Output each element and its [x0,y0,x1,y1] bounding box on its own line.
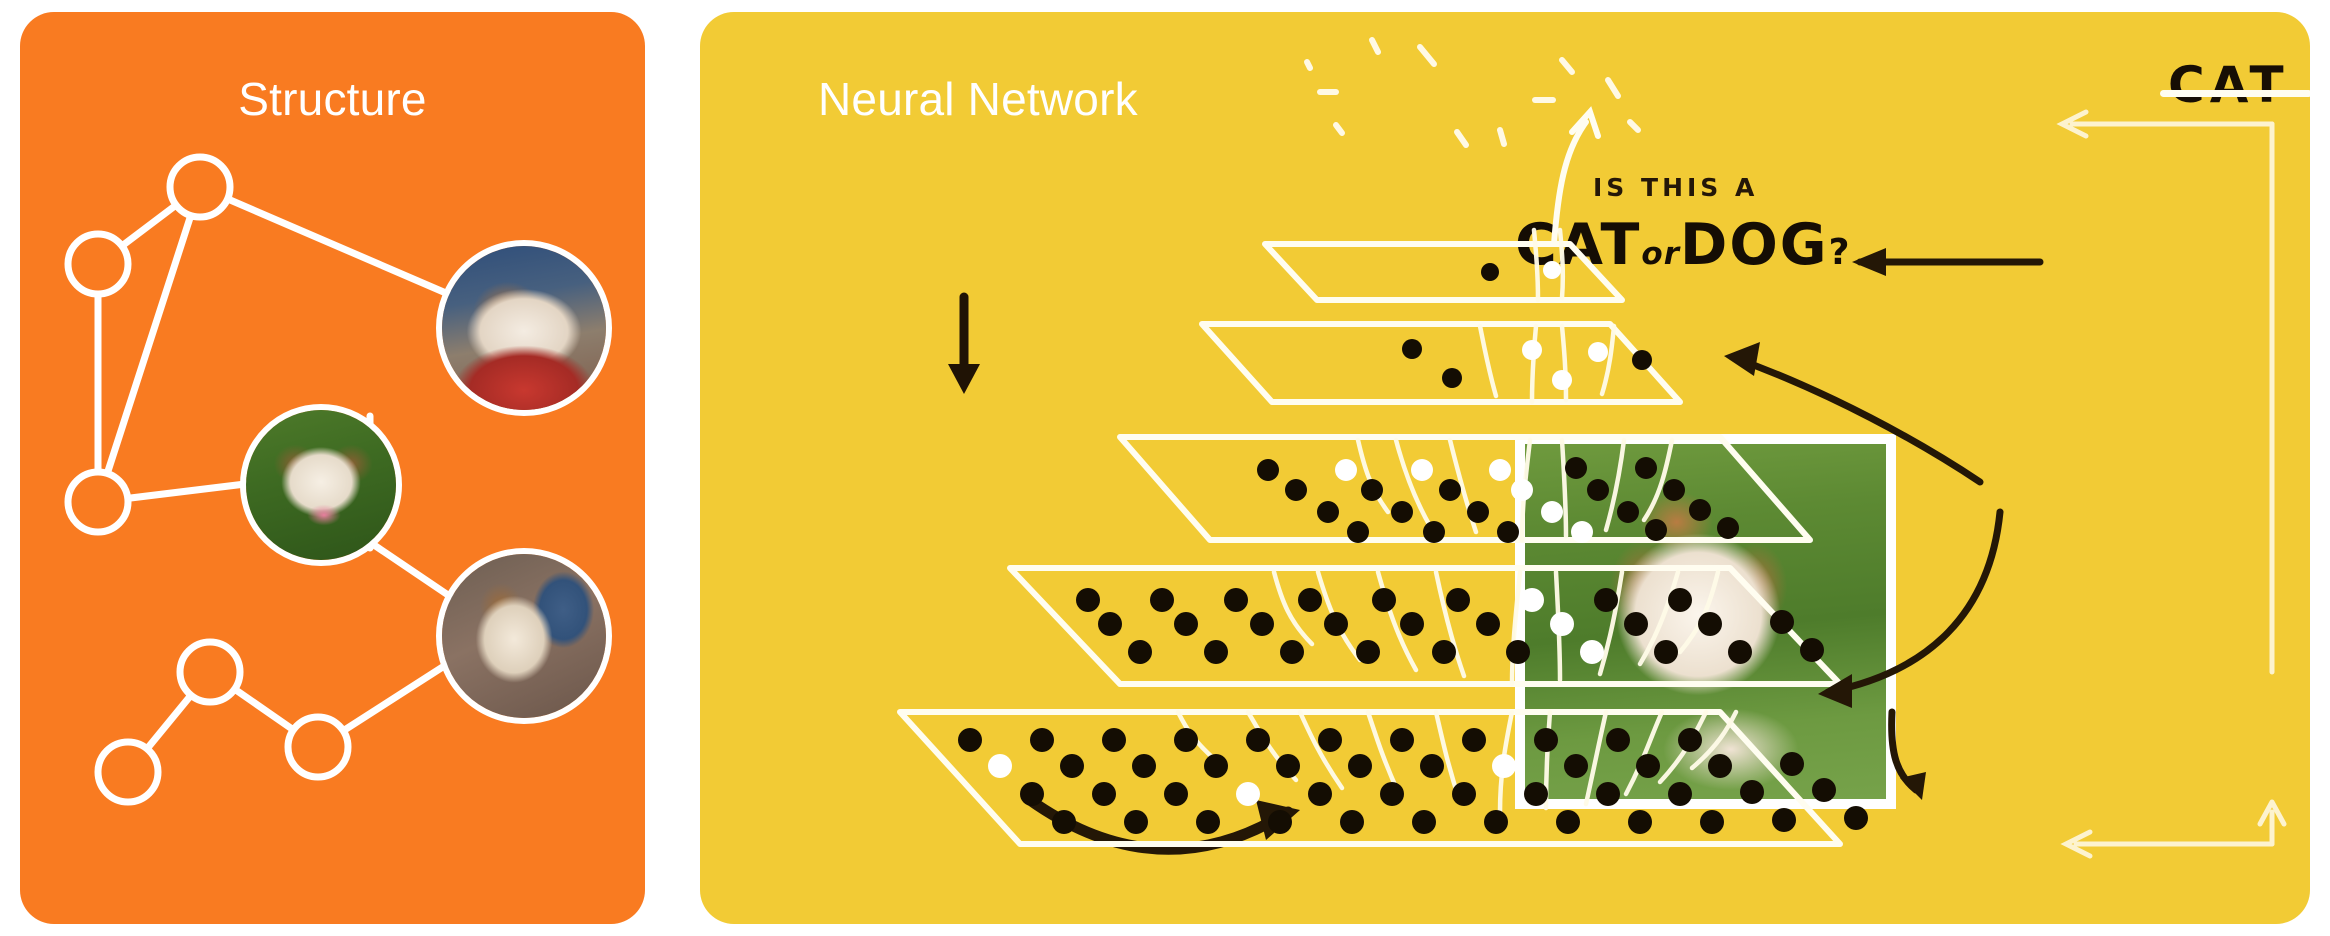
neuron-inactive [1663,479,1685,501]
neuron-inactive [1348,754,1372,778]
neuron-inactive [1844,806,1868,830]
neuron-inactive [1717,517,1739,539]
neurons-input-layer [958,728,1868,834]
neuron-inactive [1632,350,1652,370]
pointer-activated-lower [1828,512,2000,692]
neuron-inactive [1770,610,1794,634]
neuron-inactive [1285,479,1307,501]
neuron-active [1492,754,1516,778]
graph-node [180,642,240,702]
neuron-inactive [1606,728,1630,752]
neural-network-panel: Neural Network IS THIS A CATorDOG? CAT D… [700,12,2310,924]
pointer-activated-upper [1732,357,1980,482]
arrow-question-to-photo [948,297,980,394]
neuron-inactive [1060,754,1084,778]
photo-node-bulldog-on-grass[interactable] [240,404,402,566]
neuron-inactive [1318,728,1342,752]
photo-node-bulldog-on-cushion[interactable] [436,240,612,416]
neuron-inactive [1164,782,1188,806]
neuron-inactive [1728,640,1752,664]
neuron-active [1543,261,1561,279]
graph-node [68,234,128,294]
neuron-active [1552,370,1572,390]
graph-node [68,472,128,532]
neuron-inactive [1361,479,1383,501]
neuron-inactive [1298,588,1322,612]
neuron-inactive [1689,499,1711,521]
neuron-inactive [1098,612,1122,636]
label-pointers [1724,248,2040,800]
neuron-inactive [1340,810,1364,834]
neuron-inactive [1668,588,1692,612]
neuron-inactive [1565,457,1587,479]
photo-node-bulldog-puppy-sitting[interactable] [436,548,612,724]
neuron-inactive [1196,810,1220,834]
graph-node [98,742,158,802]
neuron-inactive [1412,810,1436,834]
neuron-active [1550,612,1574,636]
neuron-active [1580,640,1604,664]
neuron-inactive [1324,612,1348,636]
layer-diagram [700,12,2310,924]
neuron-inactive [1276,754,1300,778]
arrow-output-to-dog [1554,112,1598,244]
neuron-inactive [1174,612,1198,636]
neuron-inactive [1740,780,1764,804]
neuron-inactive [1636,754,1660,778]
neuron-inactive [1481,263,1499,281]
neuron-active [1520,588,1544,612]
neuron-active [1588,342,1608,362]
neuron-inactive [1124,810,1148,834]
neuron-inactive [1052,810,1076,834]
neuron-inactive [1462,728,1486,752]
neuron-inactive [1587,479,1609,501]
neuron-inactive [1635,457,1657,479]
neuron-inactive [1402,339,1422,359]
neuron-inactive [1596,782,1620,806]
neuron-inactive [1678,728,1702,752]
neuron-inactive [1204,640,1228,664]
neuron-inactive [1224,588,1248,612]
plane-output-layer [1265,244,1622,300]
neuron-active [988,754,1012,778]
neuron-inactive [1442,368,1462,388]
neuron-inactive [1250,612,1274,636]
deep-network-bracket [2062,112,2284,856]
bulldog-on-grass-image [246,410,396,560]
neuron-inactive [1423,521,1445,543]
neuron-inactive [1420,754,1444,778]
neuron-inactive [1452,782,1476,806]
neuron-inactive [1564,754,1588,778]
neuron-inactive [1132,754,1156,778]
neuron-active [1489,459,1511,481]
neuron-inactive [1092,782,1116,806]
structure-panel: Structure [20,12,645,924]
neuron-inactive [1524,782,1548,806]
neuron-inactive [1030,728,1054,752]
neuron-inactive [1645,519,1667,541]
neuron-inactive [1617,501,1639,523]
neuron-active [1411,459,1433,481]
neuron-inactive [1654,640,1678,664]
bulldog-puppy-sitting-image [442,554,606,718]
neuron-inactive [1780,752,1804,776]
neuron-inactive [1246,728,1270,752]
neuron-inactive [1628,810,1652,834]
neuron-inactive [1772,808,1796,832]
neuron-inactive [1380,782,1404,806]
neuron-inactive [1439,479,1461,501]
neuron-inactive [1400,612,1424,636]
neuron-inactive [1800,638,1824,662]
neuron-inactive [1708,754,1732,778]
graph-node [288,717,348,777]
neuron-active [1236,782,1260,806]
neuron-inactive [1372,588,1396,612]
neuron-inactive [1356,640,1380,664]
neuron-inactive [1812,778,1836,802]
neuron-inactive [1257,459,1279,481]
neuron-active [1511,479,1533,501]
infographic-canvas: Structure Neural Network IS THIS A CATor… [0,0,2330,936]
neuron-inactive [1556,810,1580,834]
neuron-inactive [1128,640,1152,664]
neuron-inactive [1268,810,1292,834]
neurons-output-layer [1481,261,1561,281]
neuron-inactive [1698,612,1722,636]
neuron-inactive [1390,728,1414,752]
neuron-inactive [1594,588,1618,612]
graph-node [170,157,230,217]
neuron-inactive [1020,782,1044,806]
neuron-inactive [1446,588,1470,612]
neurons-hidden-layer-3 [1402,339,1652,390]
neuron-inactive [1476,612,1500,636]
layer-planes [900,244,1840,844]
neuron-inactive [1174,728,1198,752]
neuron-inactive [1347,521,1369,543]
neuron-inactive [1624,612,1648,636]
neuron-inactive [958,728,982,752]
bulldog-on-cushion-image [442,246,606,410]
neuron-inactive [1308,782,1332,806]
neuron-active [1522,340,1542,360]
neuron-inactive [1280,640,1304,664]
neuron-inactive [1432,640,1456,664]
neuron-active [1541,501,1563,523]
neuron-active [1335,459,1357,481]
neuron-inactive [1204,754,1228,778]
neuron-inactive [1700,810,1724,834]
structure-panel-title: Structure [20,76,645,122]
neuron-active [1571,521,1593,543]
neuron-inactive [1150,588,1174,612]
neuron-inactive [1534,728,1558,752]
neuron-inactive [1102,728,1126,752]
neuron-inactive [1467,501,1489,523]
neuron-inactive [1076,588,1100,612]
neuron-inactive [1497,521,1519,543]
neuron-inactive [1668,782,1692,806]
neuron-inactive [1484,810,1508,834]
neuron-inactive [1317,501,1339,523]
neuron-inactive [1391,501,1413,523]
neuron-inactive [1506,640,1530,664]
